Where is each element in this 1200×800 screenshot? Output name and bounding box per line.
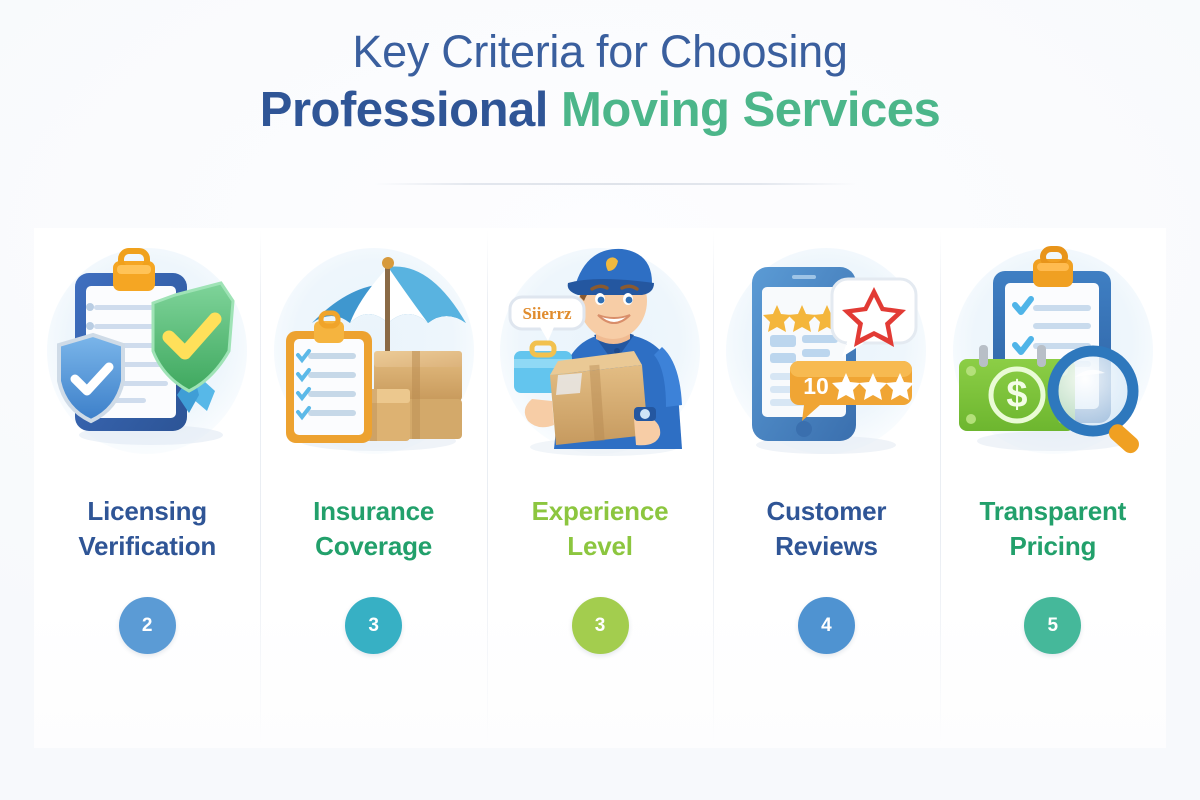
step-badge-1[interactable]: 2 bbox=[119, 597, 176, 654]
step-badge-number: 3 bbox=[595, 615, 606, 637]
step-badge-number: 2 bbox=[142, 615, 153, 637]
card-label-line2: Coverage bbox=[315, 531, 432, 561]
step-badge-3[interactable]: 3 bbox=[572, 597, 629, 654]
card-label-line2: Level bbox=[567, 531, 633, 561]
card-label-line1: Transparent bbox=[980, 496, 1127, 526]
step-badge-4[interactable]: 4 bbox=[798, 597, 855, 654]
money-clipboard-magnifier-icon: $ bbox=[949, 239, 1157, 463]
step-badge-2[interactable]: 3 bbox=[345, 597, 402, 654]
card-label-insurance-coverage: Insurance Coverage bbox=[313, 494, 434, 563]
card-label-line1: Insurance bbox=[313, 496, 434, 526]
criteria-card-customer-reviews[interactable]: 10 Customer Reviews 4 bbox=[713, 228, 939, 748]
header-divider bbox=[374, 183, 857, 185]
header: Key Criteria for Choosing Professional M… bbox=[0, 26, 1200, 140]
criteria-card-transparent-pricing[interactable]: $ Transparent Pricing bbox=[940, 228, 1166, 748]
step-badge-number: 3 bbox=[368, 615, 379, 637]
illustration-wrap: 10 bbox=[718, 232, 934, 470]
umbrella-over-boxes-icon bbox=[270, 239, 478, 463]
card-label-licensing-verification: Licensing Verification bbox=[78, 494, 216, 563]
infographic-page: Key Criteria for Choosing Professional M… bbox=[0, 0, 1200, 800]
page-title-bold: Professional bbox=[260, 83, 548, 137]
card-label-experience-level: Experience Level bbox=[532, 494, 669, 563]
rating-badge-value: 10 bbox=[804, 373, 830, 399]
clipboard-with-shields-icon bbox=[43, 239, 251, 463]
page-title-line1: Key Criteria for Choosing bbox=[0, 26, 1200, 78]
illustration-wrap bbox=[266, 232, 482, 470]
card-label-line2: Verification bbox=[78, 531, 216, 561]
illustration-wrap: $ bbox=[945, 232, 1161, 470]
card-label-line2: Reviews bbox=[775, 531, 878, 561]
card-label-line1: Customer bbox=[767, 496, 887, 526]
criteria-card-licensing-verification[interactable]: Licensing Verification 2 bbox=[34, 228, 260, 748]
dollar-symbol: $ bbox=[1006, 374, 1027, 416]
speech-bubble-text: Siierrz bbox=[522, 304, 572, 323]
step-badge-number: 4 bbox=[821, 615, 832, 637]
card-label-customer-reviews: Customer Reviews bbox=[767, 494, 887, 563]
card-label-line2: Pricing bbox=[1009, 531, 1096, 561]
criteria-card-experience-level[interactable]: Siierrz Experience Level bbox=[487, 228, 713, 748]
card-label-line1: Experience bbox=[532, 496, 669, 526]
step-badge-5[interactable]: 5 bbox=[1024, 597, 1081, 654]
illustration-wrap bbox=[39, 232, 255, 470]
illustration-wrap: Siierrz bbox=[492, 232, 708, 470]
card-label-line1: Licensing bbox=[87, 496, 207, 526]
criteria-card-row: Licensing Verification 2 bbox=[34, 228, 1166, 748]
mover-carrying-box-icon: Siierrz bbox=[496, 239, 704, 463]
page-title-line2: Professional Moving Services bbox=[0, 82, 1200, 140]
phone-star-reviews-icon: 10 bbox=[722, 239, 930, 463]
page-title-accent: Moving Services bbox=[561, 83, 940, 137]
step-badge-number: 5 bbox=[1048, 615, 1059, 637]
card-label-transparent-pricing: Transparent Pricing bbox=[980, 494, 1127, 563]
criteria-card-insurance-coverage[interactable]: Insurance Coverage 3 bbox=[260, 228, 486, 748]
